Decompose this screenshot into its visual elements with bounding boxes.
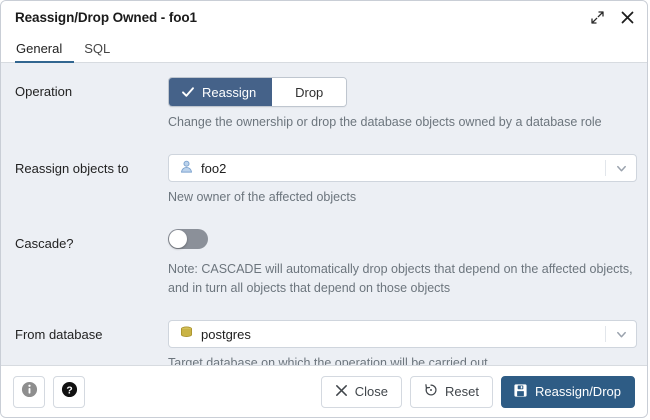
chevron-down-icon[interactable] xyxy=(606,328,636,341)
operation-label: Operation xyxy=(15,77,168,100)
close-x-icon xyxy=(335,384,348,400)
operation-option-drop-label: Drop xyxy=(295,85,323,100)
operation-option-reassign-label: Reassign xyxy=(202,85,256,100)
from-database-label: From database xyxy=(15,320,168,343)
operation-segmented-control: Reassign Drop xyxy=(168,77,347,107)
close-icon[interactable] xyxy=(619,10,635,26)
database-icon xyxy=(179,325,194,343)
dialog-body: Operation Reassign Drop Change the owner… xyxy=(1,63,647,365)
close-button[interactable]: Close xyxy=(321,376,402,408)
info-button[interactable] xyxy=(13,376,45,408)
row-from-database: From database postgres xyxy=(15,320,637,365)
operation-option-drop[interactable]: Drop xyxy=(272,78,346,106)
chevron-down-icon[interactable] xyxy=(606,162,636,175)
cascade-help-text: Note: CASCADE will automatically drop ob… xyxy=(168,260,637,298)
dialog-tabs: General SQL xyxy=(1,34,647,63)
info-icon xyxy=(21,381,38,403)
role-icon xyxy=(179,159,194,177)
reassign-to-value: foo2 xyxy=(201,161,226,176)
reassign-drop-owned-dialog: Reassign/Drop Owned - foo1 General SQL xyxy=(0,0,648,418)
operation-option-reassign[interactable]: Reassign xyxy=(169,78,272,106)
reassign-to-label: Reassign objects to xyxy=(15,154,168,177)
reassign-to-select[interactable]: foo2 xyxy=(168,154,637,182)
svg-text:?: ? xyxy=(66,385,72,396)
check-icon xyxy=(181,85,195,99)
from-database-value: postgres xyxy=(201,327,251,342)
tab-sql-label: SQL xyxy=(84,41,110,56)
expand-icon[interactable] xyxy=(589,10,605,26)
dialog-titlebar: Reassign/Drop Owned - foo1 xyxy=(1,1,647,34)
reassign-drop-button-label: Reassign/Drop xyxy=(535,384,621,399)
cascade-toggle[interactable] xyxy=(168,229,208,249)
dialog-title: Reassign/Drop Owned - foo1 xyxy=(15,10,589,25)
row-reassign-objects-to: Reassign objects to foo2 xyxy=(15,154,637,207)
help-button[interactable]: ? xyxy=(53,376,85,408)
from-database-help-text: Target database on which the operation w… xyxy=(168,354,637,365)
cascade-toggle-knob xyxy=(169,230,187,248)
operation-help-text: Change the ownership or drop the databas… xyxy=(168,113,637,132)
reset-button-label: Reset xyxy=(445,384,479,399)
row-cascade: Cascade? Note: CASCADE will automaticall… xyxy=(15,229,637,298)
reassign-to-help-text: New owner of the affected objects xyxy=(168,188,637,207)
from-database-select[interactable]: postgres xyxy=(168,320,637,348)
row-operation: Operation Reassign Drop Change the owner… xyxy=(15,77,637,132)
titlebar-controls xyxy=(589,10,635,26)
dialog-footer: ? Close Reset xyxy=(1,365,647,417)
reset-icon xyxy=(424,383,438,400)
tab-general-label: General xyxy=(16,41,62,56)
close-button-label: Close xyxy=(355,384,388,399)
cascade-label: Cascade? xyxy=(15,229,168,252)
save-icon xyxy=(513,383,528,401)
reassign-drop-button[interactable]: Reassign/Drop xyxy=(501,376,635,408)
tab-sql[interactable]: SQL xyxy=(74,34,120,62)
reset-button[interactable]: Reset xyxy=(410,376,493,408)
help-icon: ? xyxy=(61,381,78,403)
tab-general[interactable]: General xyxy=(15,34,74,62)
